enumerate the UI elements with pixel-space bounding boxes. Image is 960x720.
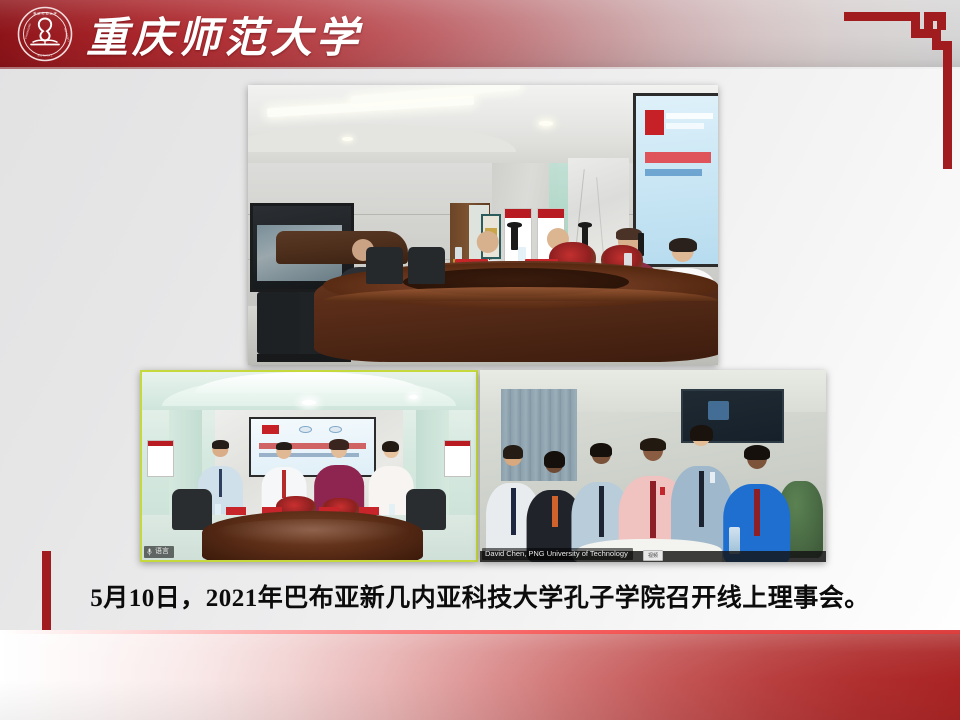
- slide-caption: 5月10日，2021年巴布亚新几内亚科技大学孔子学院召开线上理事会。: [0, 578, 960, 614]
- svg-text:N O R M A L: N O R M A L: [38, 54, 53, 58]
- conference-room-scene: [248, 85, 718, 365]
- bottom-band-edge: [0, 630, 960, 634]
- slide-root: 重 庆 师 范 大 学 CHONGQING UNIVERSITY N O R M…: [0, 0, 960, 720]
- png-video-scene: [480, 370, 826, 562]
- svg-text:重 庆 师 范 大 学: 重 庆 师 范 大 学: [33, 11, 56, 16]
- university-seal-icon: 重 庆 师 范 大 学 CHONGQING UNIVERSITY N O R M…: [17, 6, 73, 62]
- video-feed-chongqing: 语言: [140, 370, 478, 562]
- video-label-chongqing: 语言: [144, 546, 174, 558]
- video-feed-png: David Chen, PNG University of Technology…: [480, 370, 826, 562]
- video-label-text: 语言: [155, 547, 169, 557]
- chongqing-video-scene: [142, 372, 476, 560]
- video-control-button[interactable]: 视频: [643, 550, 663, 561]
- microphone-icon: [147, 548, 152, 556]
- bottom-decorative-band: [0, 630, 960, 720]
- video-label-png: David Chen, PNG University of Technology: [482, 548, 633, 560]
- svg-text:UNIVERSITY: UNIVERSITY: [63, 27, 71, 43]
- university-name: 重庆师范大学: [86, 3, 362, 65]
- header-underline: [0, 67, 960, 69]
- conference-room-photo: [248, 85, 718, 365]
